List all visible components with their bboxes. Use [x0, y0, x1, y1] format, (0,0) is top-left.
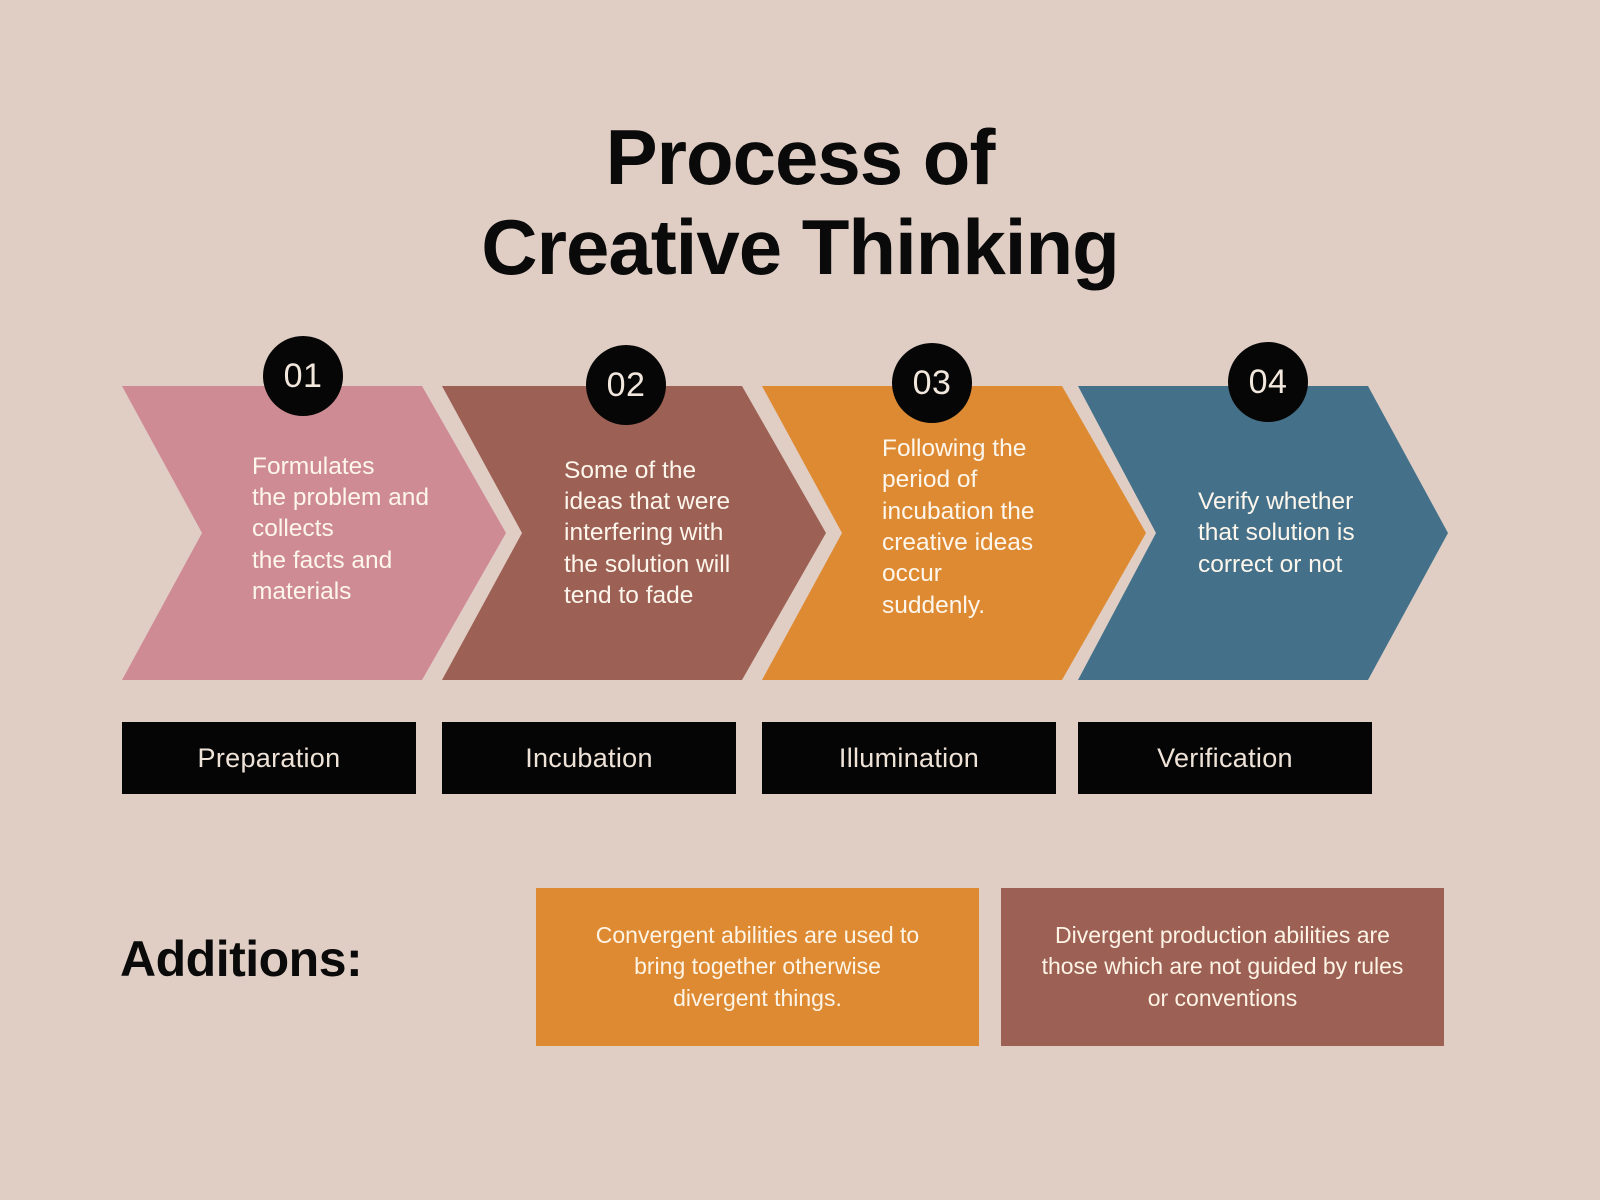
step-number-badge-2: 02 — [586, 345, 666, 425]
step-number-label: 01 — [284, 357, 323, 396]
step-number-label: 04 — [1249, 363, 1288, 402]
stage-label-text: Illumination — [839, 743, 979, 774]
additions-heading: Additions: — [120, 930, 362, 988]
process-step-2-body: Some of the ideas that were interfering … — [564, 386, 779, 680]
process-step-4-chevron[interactable]: Verify whether that solution is correct … — [1078, 386, 1448, 680]
step-number-badge-1: 01 — [263, 336, 343, 416]
process-step-4-body: Verify whether that solution is correct … — [1198, 386, 1418, 680]
process-step-3-body: Following the period of incubation the c… — [882, 380, 1097, 674]
stage-label-text: Incubation — [525, 743, 653, 774]
stage-label-text: Preparation — [198, 743, 341, 774]
stage-label-illumination[interactable]: Illumination — [762, 722, 1056, 794]
stage-label-incubation[interactable]: Incubation — [442, 722, 736, 794]
step-number-badge-3: 03 — [892, 343, 972, 423]
addition-box-text: Convergent abilities are used to bring t… — [596, 920, 919, 1013]
addition-box-convergent[interactable]: Convergent abilities are used to bring t… — [536, 888, 979, 1046]
infographic-canvas: Process of Creative Thinking Formulates … — [0, 0, 1600, 1200]
stage-label-text: Verification — [1157, 743, 1293, 774]
step-number-badge-4: 04 — [1228, 342, 1308, 422]
step-number-label: 03 — [913, 364, 952, 403]
addition-box-divergent[interactable]: Divergent production abilities are those… — [1001, 888, 1444, 1046]
stage-label-verification[interactable]: Verification — [1078, 722, 1372, 794]
step-number-label: 02 — [607, 366, 646, 405]
addition-box-text: Divergent production abilities are those… — [1042, 920, 1404, 1013]
stage-label-preparation[interactable]: Preparation — [122, 722, 416, 794]
